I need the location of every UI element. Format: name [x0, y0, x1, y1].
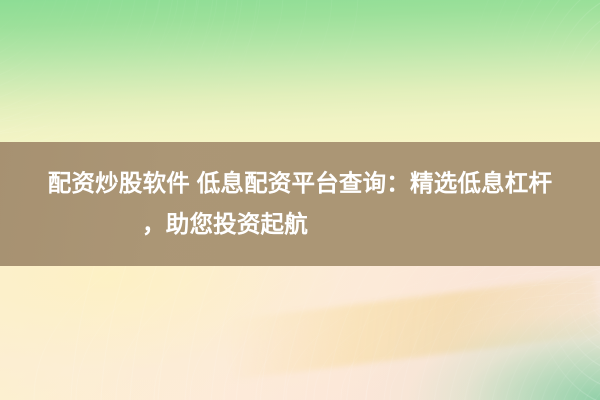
headline-line-1: 配资炒股软件 低息配资平台查询：精选低息杠杆	[14, 163, 586, 204]
headline-text-block: 配资炒股软件 低息配资平台查询：精选低息杠杆 ，助您投资起航	[0, 142, 600, 266]
promo-banner: 配资炒股软件 低息配资平台查询：精选低息杠杆 ，助您投资起航	[0, 0, 600, 400]
headline-line-2: ，助您投资起航	[142, 204, 458, 245]
